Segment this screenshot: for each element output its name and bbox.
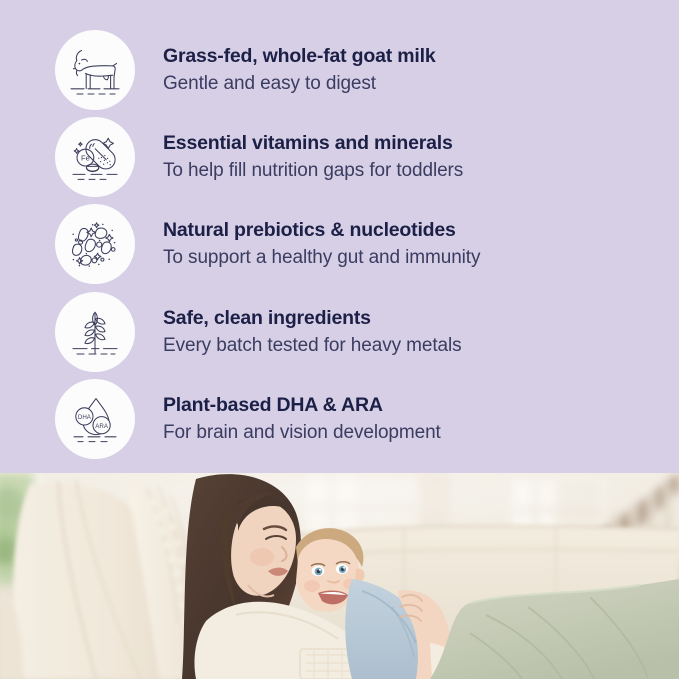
benefit-subtitle: Gentle and easy to digest (163, 74, 435, 93)
benefit-row: DHA ARA Plant-based DHA & ARA (55, 379, 655, 459)
ara-label: ARA (95, 423, 109, 430)
benefit-row: Fe (55, 117, 655, 197)
benefits-panel: Grass-fed, whole-fat goat milk Gentle an… (0, 0, 679, 473)
product-benefits-infographic: Grass-fed, whole-fat goat milk Gentle an… (0, 0, 679, 679)
benefit-row: Safe, clean ingredients Every batch test… (55, 292, 655, 372)
benefit-text: Plant-based DHA & ARA For brain and visi… (163, 396, 441, 442)
probiotics-icon (55, 204, 135, 284)
dha-ara-droplet-icon: DHA ARA (55, 379, 135, 459)
benefit-subtitle: To support a healthy gut and immunity (163, 248, 480, 267)
benefit-subtitle: Every batch tested for heavy metals (163, 336, 462, 355)
fe-label: Fe (81, 154, 90, 163)
dha-label: DHA (78, 414, 92, 421)
wheat-stalk-icon (55, 292, 135, 372)
benefit-title: Plant-based DHA & ARA (163, 396, 441, 416)
lifestyle-photo (0, 473, 679, 679)
mother-and-toddler-on-sofa (0, 473, 679, 679)
benefit-row: Natural prebiotics & nucleotides To supp… (55, 204, 655, 284)
vitamin-capsule-icon: Fe (55, 117, 135, 197)
goat-icon (55, 30, 135, 110)
benefit-row: Grass-fed, whole-fat goat milk Gentle an… (55, 30, 655, 110)
benefit-text: Grass-fed, whole-fat goat milk Gentle an… (163, 47, 435, 93)
benefit-title: Essential vitamins and minerals (163, 134, 463, 154)
benefit-title: Grass-fed, whole-fat goat milk (163, 47, 435, 67)
benefit-text: Essential vitamins and minerals To help … (163, 134, 463, 180)
benefit-title: Safe, clean ingredients (163, 309, 462, 329)
benefit-subtitle: To help fill nutrition gaps for toddlers (163, 161, 463, 180)
benefit-text: Natural prebiotics & nucleotides To supp… (163, 221, 480, 267)
benefit-text: Safe, clean ingredients Every batch test… (163, 309, 462, 355)
benefit-title: Natural prebiotics & nucleotides (163, 221, 480, 241)
benefit-subtitle: For brain and vision development (163, 423, 441, 442)
